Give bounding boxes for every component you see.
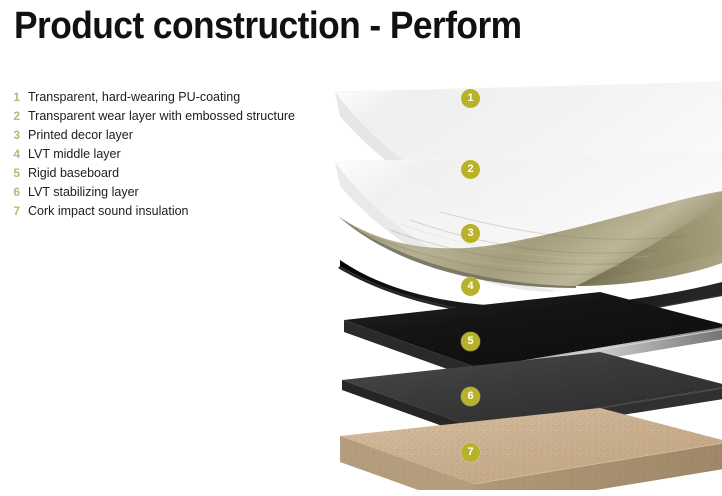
list-item: 7 Cork impact sound insulation [0,204,330,223]
legend-label: LVT stabilizing layer [28,185,139,199]
legend-label: Transparent wear layer with embossed str… [28,109,295,123]
list-item: 1 Transparent, hard-wearing PU-coating [0,90,330,109]
legend-number: 1 [0,90,20,104]
legend-label: Printed decor layer [28,128,133,142]
diagram-badge-7[interactable]: 7 [461,443,480,462]
legend-label: Cork impact sound insulation [28,204,189,218]
legend-number: 7 [0,204,20,218]
list-item: 2 Transparent wear layer with embossed s… [0,109,330,128]
legend-list: 1 Transparent, hard-wearing PU-coating 2… [0,90,330,223]
diagram-badge-1[interactable]: 1 [461,89,480,108]
legend-label: Transparent, hard-wearing PU-coating [28,90,240,104]
list-item: 6 LVT stabilizing layer [0,185,330,204]
legend-number: 2 [0,109,20,123]
list-item: 4 LVT middle layer [0,147,330,166]
product-construction-diagram [300,70,722,490]
diagram-badge-2[interactable]: 2 [461,160,480,179]
diagram-badge-6[interactable]: 6 [461,387,480,406]
legend-label: Rigid baseboard [28,166,119,180]
page-title: Product construction - Perform [14,4,522,48]
layer-7-cork-insulation [340,408,722,490]
diagram-badge-5[interactable]: 5 [461,332,480,351]
diagram-badge-3[interactable]: 3 [461,224,480,243]
legend-label: LVT middle layer [28,147,121,161]
legend-number: 5 [0,166,20,180]
list-item: 3 Printed decor layer [0,128,330,147]
diagram-badge-4[interactable]: 4 [461,277,480,296]
list-item: 5 Rigid baseboard [0,166,330,185]
legend-number: 6 [0,185,20,199]
legend-number: 4 [0,147,20,161]
legend-number: 3 [0,128,20,142]
